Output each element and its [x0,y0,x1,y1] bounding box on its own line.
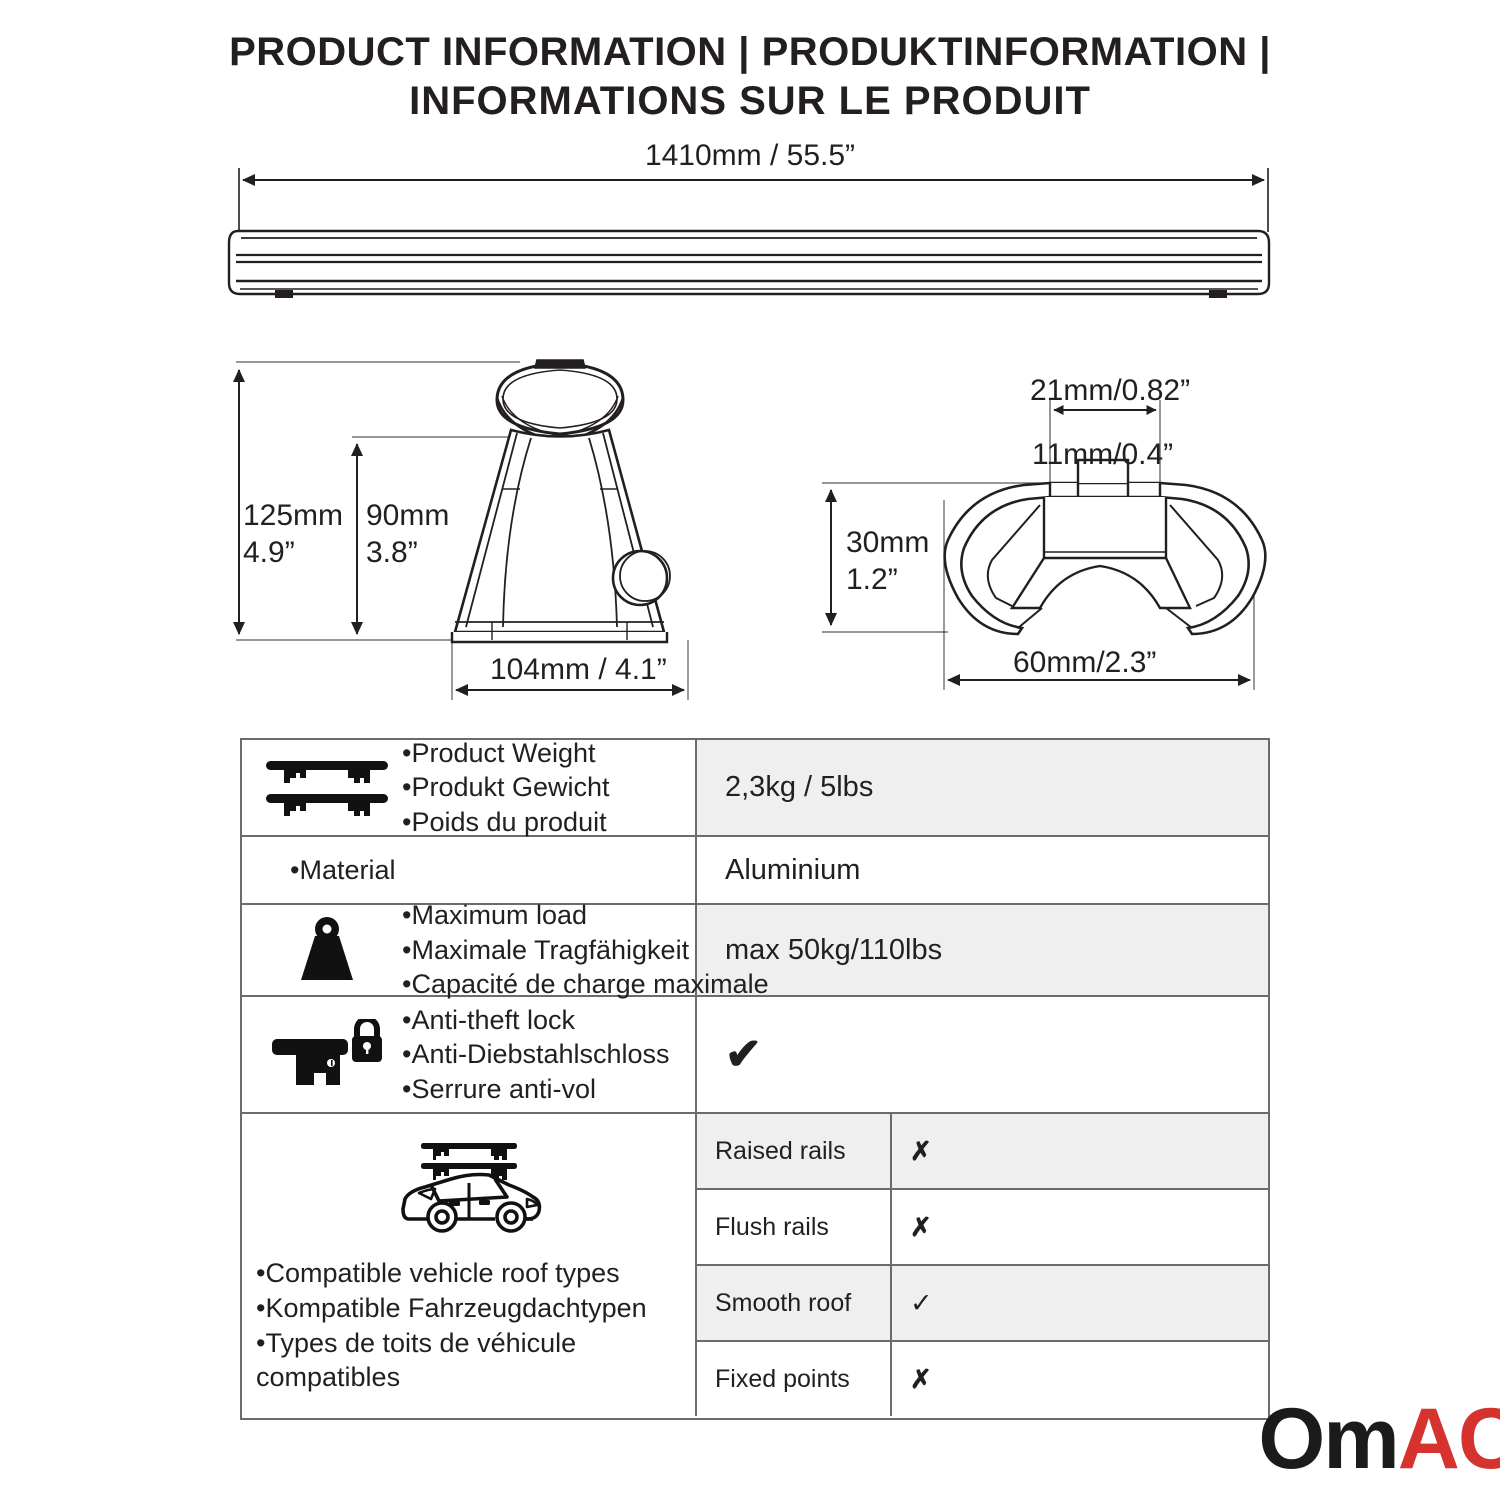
tower-front-view [452,360,670,642]
roof-option-name: Flush rails [697,1190,892,1264]
row-value-cell: Aluminium [697,837,1268,903]
specification-table: •Product Weight •Produkt Gewicht •Poids … [240,738,1270,1420]
row-label-cell: •Anti-theft lock •Anti-Diebstahlschloss … [242,997,697,1112]
dimension-tower-height-inner: 90mm 3.8” [366,498,449,571]
roof-option-row: Fixed points ✗ [697,1342,1268,1416]
roof-option-value: ✓ [892,1266,1268,1340]
table-row: •Material Aluminium [242,837,1268,905]
row-value-text: 2,3kg / 5lbs [725,771,873,804]
roof-option-value: ✗ [892,1190,1268,1264]
dimension-profile-slot-outer: 21mm/0.82” [1030,373,1190,410]
row-value-text: Aluminium [725,854,860,887]
bar-with-padlock-icon [252,1019,402,1091]
roof-option-row: Raised rails ✗ [697,1114,1268,1190]
crossbar-side-view [229,231,1269,297]
row-label-text: •Anti-theft lock •Anti-Diebstahlschloss … [402,1003,670,1107]
row-label-text: •Maximum load •Maximale Tragfähigkeit •C… [402,898,769,1002]
car-with-crossbars-icon [385,1133,553,1246]
bar-length-dimension [239,168,1268,232]
roof-option-name: Fixed points [697,1342,892,1416]
row-label-cell: •Compatible vehicle roof types •Kompatib… [242,1114,697,1416]
anti-theft-check-mark: ✔ [725,1033,762,1077]
row-label-text: •Product Weight •Produkt Gewicht •Poids … [402,736,610,840]
dimension-profile-height: 30mm 1.2” [846,525,929,598]
check-icon: ✓ [910,1288,933,1319]
logo-text-om: Om [1258,1391,1397,1487]
cross-icon: ✗ [910,1136,932,1167]
row-label-text: •Material [252,853,395,888]
table-row: •Maximum load •Maximale Tragfähigkeit •C… [242,905,1268,997]
row-label-cell: •Material [242,837,697,903]
row-label-cell: •Maximum load •Maximale Tragfähigkeit •C… [242,905,697,995]
table-row-roof-types: •Compatible vehicle roof types •Kompatib… [242,1114,1268,1416]
roof-option-row: Smooth roof ✓ [697,1266,1268,1342]
table-row: •Anti-theft lock •Anti-Diebstahlschloss … [242,997,1268,1114]
dimension-tower-base-width: 104mm / 4.1” [490,652,667,689]
product-information-sheet: PRODUCT INFORMATION | PRODUKTINFORMATION… [0,0,1500,1500]
row-label-cell: •Product Weight •Produkt Gewicht •Poids … [242,740,697,835]
cross-icon: ✗ [910,1212,932,1243]
dimension-bar-length: 1410mm / 55.5” [0,138,1500,175]
omac-logo: OmAC [1258,1396,1500,1482]
logo-text-ac: AC [1398,1391,1500,1487]
row-value-cell: ✔ [697,997,1268,1112]
row-value-cell: max 50kg/110lbs [697,905,1268,995]
table-row: •Product Weight •Produkt Gewicht •Poids … [242,740,1268,837]
roof-options-subtable: Raised rails ✗ Flush rails ✗ Smooth roof… [697,1114,1268,1416]
profile-cross-section [945,460,1266,634]
row-label-text: •Compatible vehicle roof types •Kompatib… [250,1256,647,1394]
dimension-tower-height-total: 125mm 4.9” [243,498,343,571]
roof-option-name: Smooth roof [697,1266,892,1340]
roof-option-value: ✗ [892,1114,1268,1188]
roof-option-name: Raised rails [697,1114,892,1188]
roof-option-value: ✗ [892,1342,1268,1416]
two-crossbars-icon [252,753,402,823]
row-value-cell: 2,3kg / 5lbs [697,740,1268,835]
dimension-profile-width: 60mm/2.3” [1013,645,1156,682]
weight-kettlebell-icon [252,916,402,984]
cross-icon: ✗ [910,1364,932,1395]
dimension-profile-slot-inner: 11mm/0.4” [1032,437,1173,474]
roof-option-row: Flush rails ✗ [697,1190,1268,1266]
